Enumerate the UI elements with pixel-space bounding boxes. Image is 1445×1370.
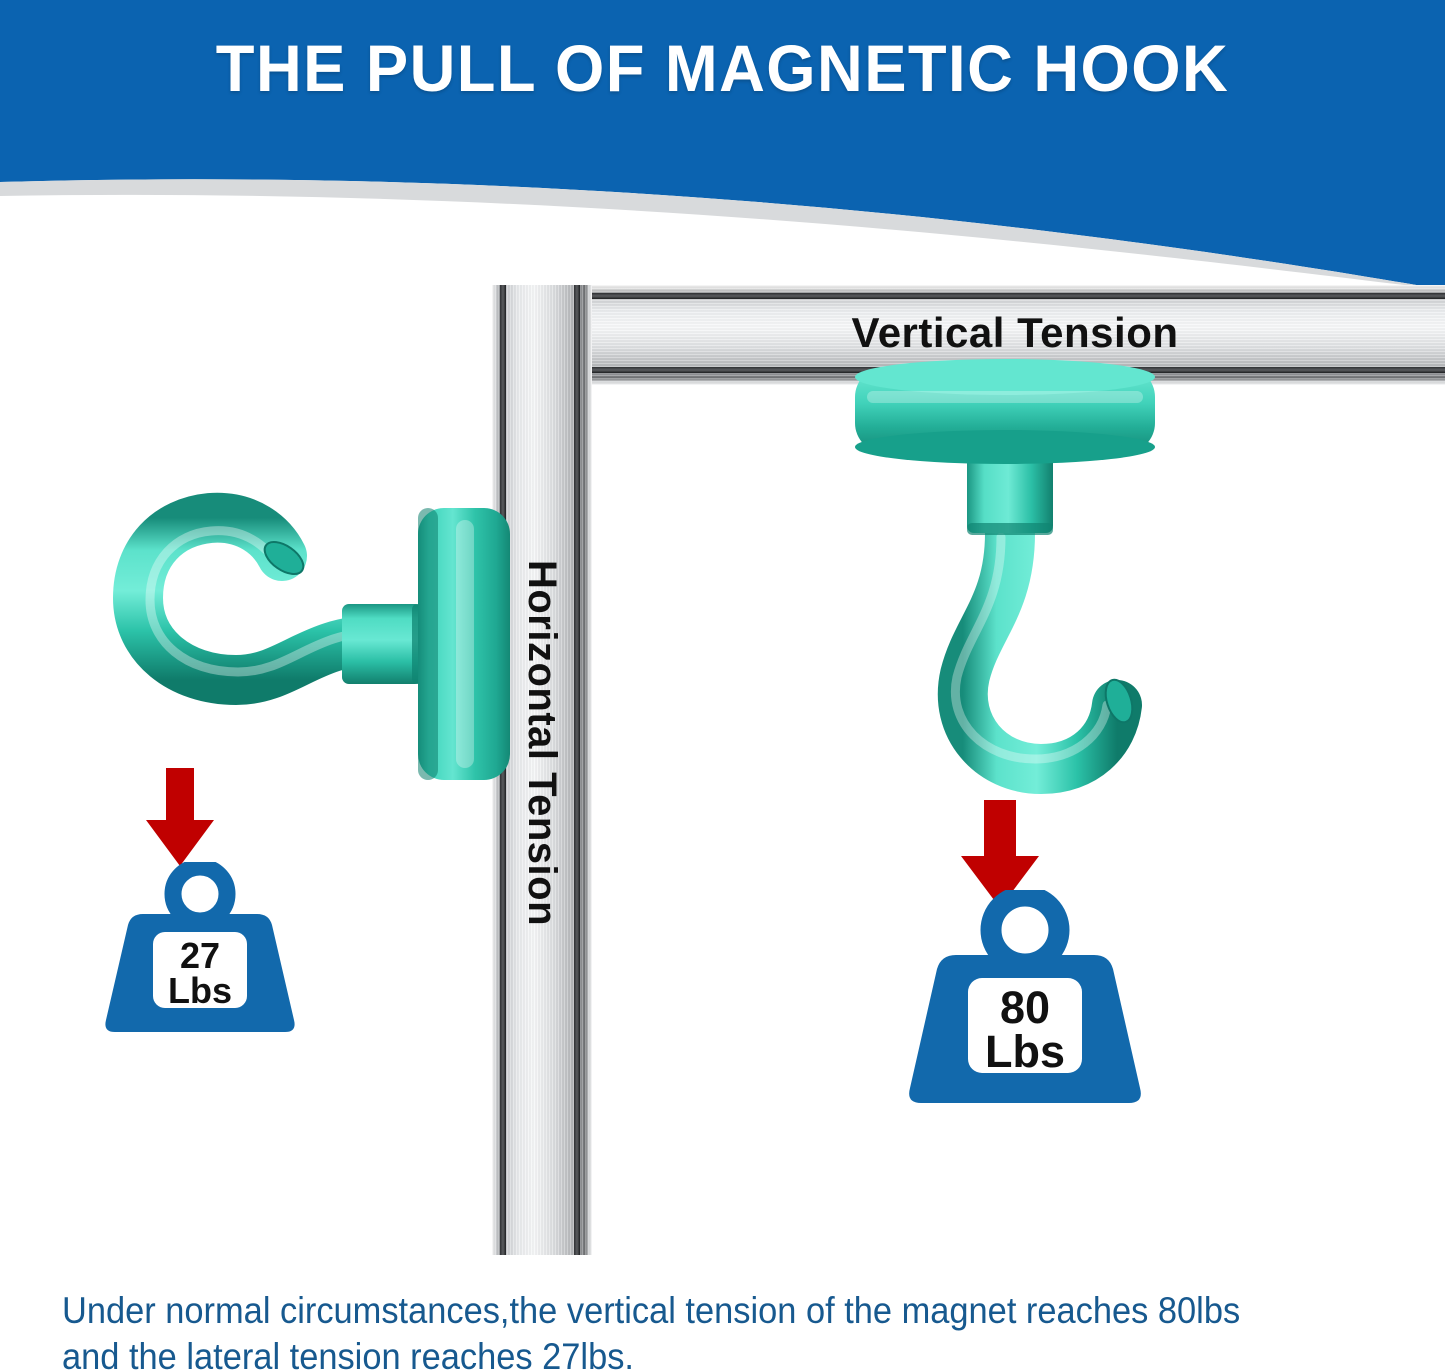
- weight-unit-right: Lbs: [985, 1026, 1065, 1077]
- infographic-page: THE PULL OF MAGNETIC HOOK Vertical Tensi…: [0, 0, 1445, 1370]
- hook-stud-shadow-right: [967, 523, 1053, 535]
- magnet-disc-left-highlight: [456, 520, 474, 768]
- horizontal-bar-top-edge: [585, 293, 1445, 299]
- weight-icon-80lbs: 80 Lbs: [880, 890, 1170, 1115]
- weight-icon-27lbs: 27 Lbs: [80, 862, 320, 1042]
- caption-text: Under normal circumstances,the vertical …: [62, 1288, 1299, 1370]
- vertical-bar-right-edge: [574, 285, 580, 1255]
- weight-handle-ring-left: [173, 867, 227, 921]
- arrow-shape: [146, 768, 214, 866]
- weight-unit-left: Lbs: [168, 970, 232, 1011]
- magnet-disc-right-bottom: [855, 430, 1155, 464]
- magnet-disc-left-inner-rim: [418, 508, 438, 780]
- horizontal-mount-magnet-hook: [60, 470, 520, 800]
- vertical-mount-magnet-hook: [845, 355, 1185, 815]
- horizontal-tension-label: Horizontal Tension: [514, 458, 570, 1028]
- weight-handle-ring-right: [991, 896, 1059, 964]
- magnet-disc-right-top: [855, 359, 1155, 395]
- down-arrow-left: [140, 768, 220, 868]
- vertical-tension-label: Vertical Tension: [585, 303, 1445, 363]
- hook-stud-left: [342, 604, 422, 684]
- header-banner: THE PULL OF MAGNETIC HOOK: [0, 0, 1445, 290]
- page-title: THE PULL OF MAGNETIC HOOK: [29, 28, 1416, 108]
- magnet-disc-right-highlight: [867, 391, 1143, 403]
